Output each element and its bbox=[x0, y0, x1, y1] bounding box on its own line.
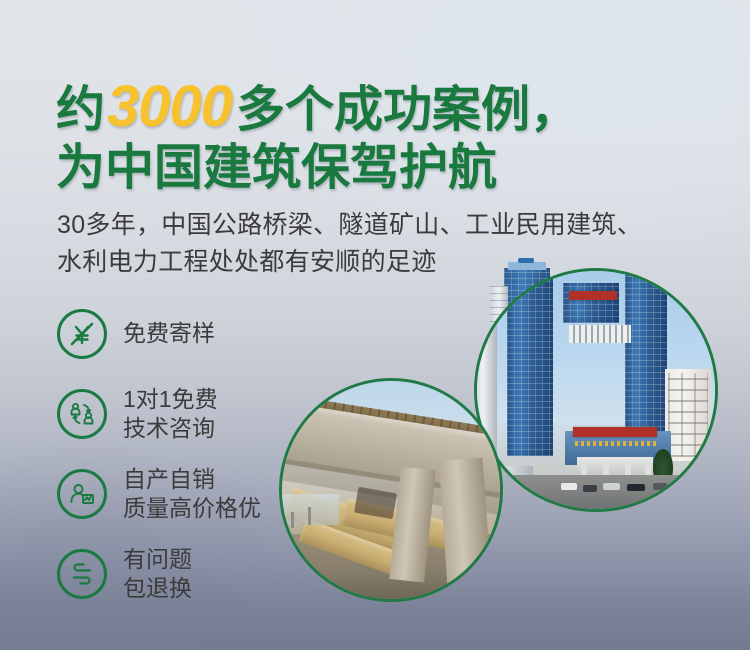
headline-suffix: 多个成功案例， bbox=[236, 83, 579, 137]
building-photo bbox=[474, 268, 718, 512]
person-chart-icon bbox=[57, 469, 107, 519]
feature-item-self-production: 自产自销 质量高价格优 bbox=[57, 454, 357, 534]
one-on-one-consult-icon bbox=[57, 389, 107, 439]
feature-line-1: 自产自销 bbox=[123, 465, 261, 494]
feature-line-2: 包退换 bbox=[123, 574, 192, 603]
feature-line-1: 免费寄样 bbox=[123, 319, 215, 348]
feature-line-2: 质量高价格优 bbox=[123, 494, 261, 523]
feature-text: 免费寄样 bbox=[123, 319, 215, 348]
no-fee-yen-icon bbox=[57, 309, 107, 359]
headline: 约3000多个成功案例， 为中国建筑保驾护航 bbox=[56, 78, 716, 193]
exchange-arrows-icon bbox=[57, 549, 107, 599]
headline-line-1: 约3000多个成功案例， bbox=[56, 78, 716, 136]
feature-text: 有问题 包退换 bbox=[123, 545, 192, 604]
subtitle-line-1: 30多年，中国公路桥梁、隧道矿山、工业民用建筑、 bbox=[57, 207, 737, 244]
feature-text: 1对1免费 技术咨询 bbox=[123, 385, 218, 444]
feature-line-1: 1对1免费 bbox=[123, 385, 218, 414]
feature-item-consultation: 1对1免费 技术咨询 bbox=[57, 374, 357, 454]
subtitle: 30多年，中国公路桥梁、隧道矿山、工业民用建筑、 水利电力工程处处都有安顺的足迹 bbox=[57, 207, 737, 281]
feature-line-1: 有问题 bbox=[123, 545, 192, 574]
feature-list: 免费寄样 1对1免费 技术咨询 bbox=[57, 294, 357, 614]
promo-banner: 约3000多个成功案例， 为中国建筑保驾护航 30多年，中国公路桥梁、隧道矿山、… bbox=[0, 0, 750, 650]
building-scene bbox=[477, 271, 715, 509]
headline-prefix: 约 bbox=[56, 83, 105, 137]
feature-item-return-exchange: 有问题 包退换 bbox=[57, 534, 357, 614]
feature-item-free-sample: 免费寄样 bbox=[57, 294, 357, 374]
feature-text: 自产自销 质量高价格优 bbox=[123, 465, 261, 524]
headline-number: 3000 bbox=[105, 74, 236, 139]
feature-line-2: 技术咨询 bbox=[123, 414, 218, 443]
headline-line-2: 为中国建筑保驾护航 bbox=[56, 144, 716, 193]
